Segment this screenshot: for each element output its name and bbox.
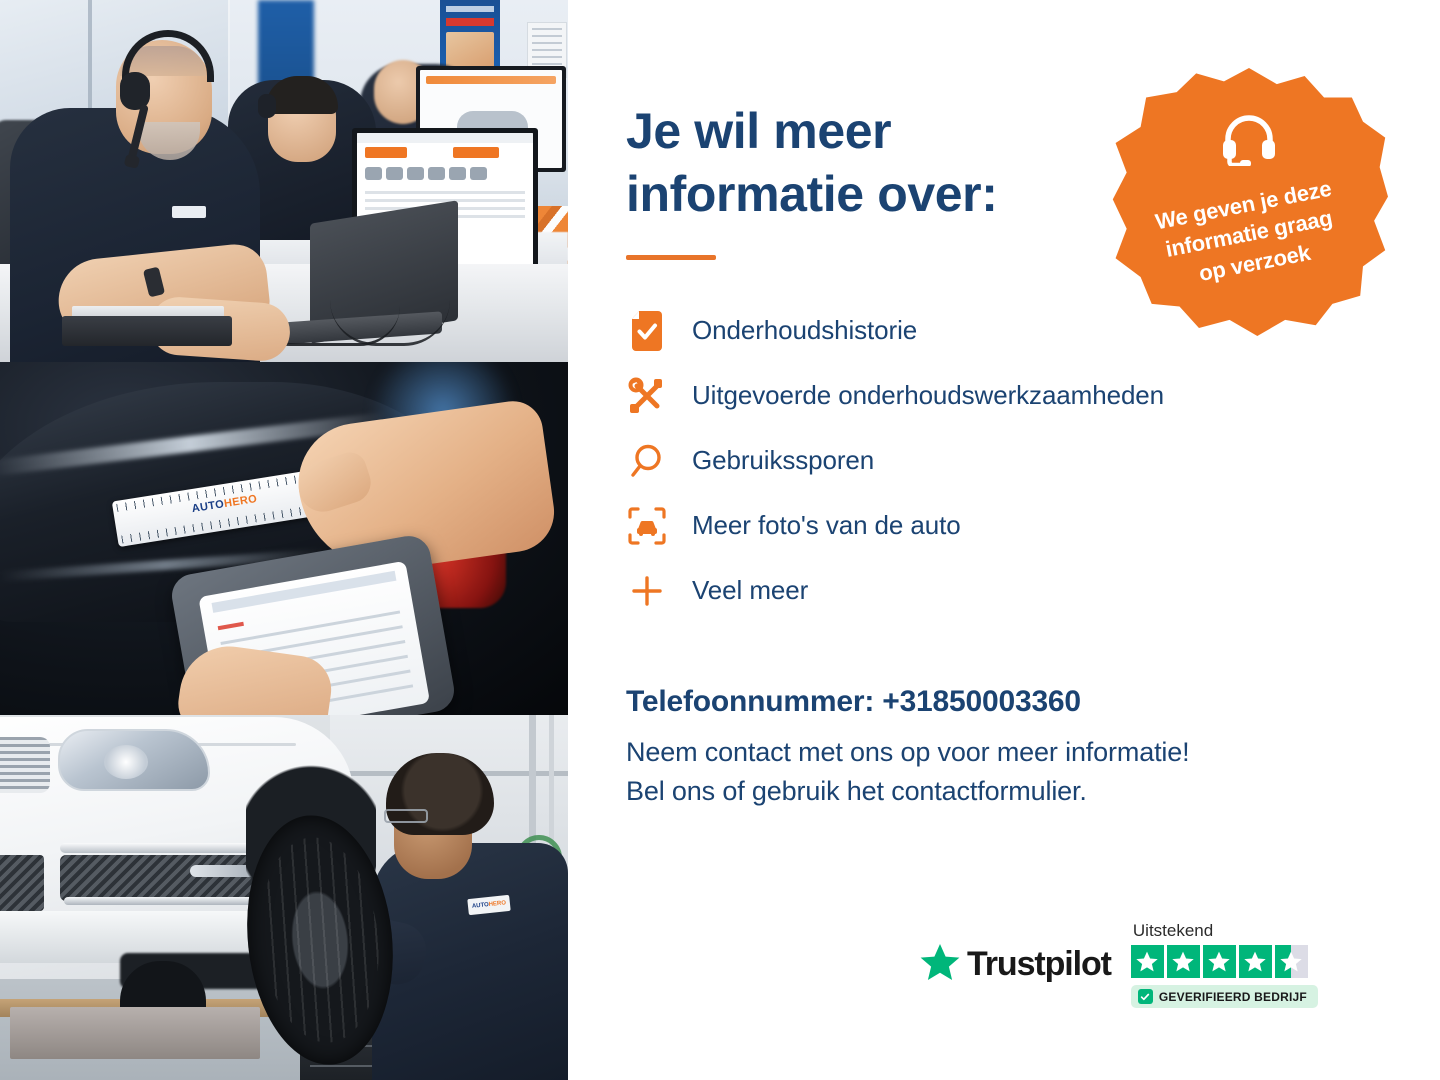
headset-icon <box>1221 112 1277 166</box>
tools-icon <box>626 375 668 417</box>
headlight <box>58 729 210 791</box>
rating-word: Uitstekend <box>1133 921 1213 941</box>
list-item: Uitgevoerde onderhoudswerkzaamheden <box>626 363 1440 428</box>
list-item: Meer foto's van de auto <box>626 493 1440 558</box>
polo-logo-patch <box>172 206 206 218</box>
photo-call-center <box>0 0 568 362</box>
trustpilot-logo: Trustpilot <box>920 943 1111 986</box>
star-icon <box>1203 945 1236 978</box>
list-item-label: Uitgevoerde onderhoudswerkzaamheden <box>692 380 1164 411</box>
lower-grille-side <box>0 855 44 911</box>
star-rating <box>1131 945 1308 978</box>
contact-line-2: Bel ons of gebruik het contactformulier. <box>626 772 1440 811</box>
list-item-label: Veel meer <box>692 575 808 606</box>
list-item-label: Meer foto's van de auto <box>692 510 961 541</box>
contact-text: Neem contact met ons op voor meer inform… <box>626 733 1440 811</box>
bench-cloth <box>10 1007 260 1059</box>
headline-line-1: Je wil meer <box>626 103 891 159</box>
desk-tablet <box>62 316 232 346</box>
page-title: Je wil meer informatie over: <box>626 100 1146 225</box>
star-icon-half <box>1275 945 1308 978</box>
mechanic-glasses <box>384 809 428 823</box>
contact-line-1: Neem contact met ons op voor meer inform… <box>626 733 1440 772</box>
photo-column: AUTOHERO <box>0 0 568 1080</box>
list-item-label: Gebruikssporen <box>692 445 874 476</box>
title-divider <box>626 255 716 260</box>
list-item-label: Onderhoudshistorie <box>692 315 917 346</box>
agent-2-headset <box>258 94 276 118</box>
marketing-banner: AUTOHERO <box>0 0 1440 1080</box>
photo-mechanic-workshop: AUTOHERO <box>0 715 568 1080</box>
list-item: Veel meer <box>626 558 1440 623</box>
list-item: Gebruikssporen <box>626 428 1440 493</box>
car-scan-icon <box>626 505 668 547</box>
star-icon <box>1131 945 1164 978</box>
verified-label: GEVERIFIEERD BEDRIJF <box>1159 990 1307 1004</box>
info-on-request-badge: We geven je deze informatie graag op ver… <box>1110 68 1388 336</box>
trustpilot-rating: Uitstekend <box>1131 921 1318 1008</box>
content-panel: Je wil meer informatie over: Onderhoudsh… <box>568 0 1440 1080</box>
magnifier-icon <box>626 440 668 482</box>
upper-grille <box>0 737 50 793</box>
plus-icon <box>626 570 668 612</box>
document-check-icon <box>626 310 668 352</box>
photo-car-inspection: AUTOHERO <box>0 362 568 715</box>
star-icon <box>1239 945 1272 978</box>
headline-line-2: informatie over: <box>626 163 1146 226</box>
trustpilot-star-icon <box>920 943 960 986</box>
feature-list: Onderhoudshistorie Uitgevoerd <box>626 298 1440 623</box>
phone-number[interactable]: Telefoonnummer: +31850003360 <box>626 685 1440 719</box>
trustpilot-wordmark: Trustpilot <box>967 945 1111 984</box>
check-icon <box>1138 989 1153 1004</box>
verified-company-badge: GEVERIFIEERD BEDRIJF <box>1131 985 1318 1008</box>
trustpilot-widget[interactable]: Trustpilot Uitstekend <box>920 921 1318 1008</box>
star-icon <box>1167 945 1200 978</box>
contact-block: Telefoonnummer: +31850003360 Neem contac… <box>626 685 1440 811</box>
